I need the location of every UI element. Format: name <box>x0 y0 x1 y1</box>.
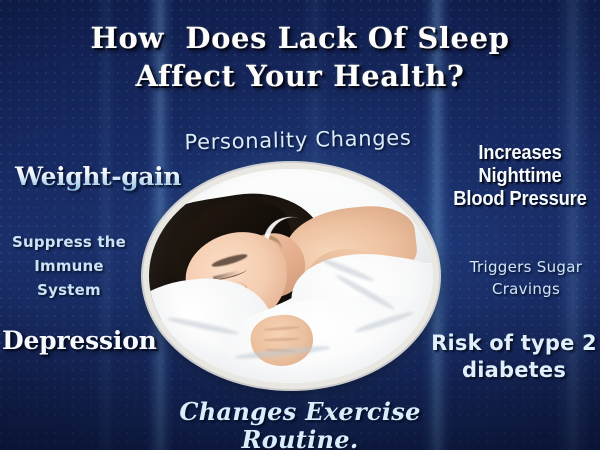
photo-edge-shading <box>149 169 433 383</box>
page-title: How Does Lack Of Sleep Affect Your Healt… <box>0 20 600 94</box>
label-suppress-immune-system: Suppress the Immune System <box>2 230 136 302</box>
label-triggers-sugar-cravings: Triggers Sugar Cravings <box>452 256 600 300</box>
sleeping-woman-photo <box>149 169 433 383</box>
label-changes-exercise-routine: Changes Exercise Routine. <box>130 398 470 450</box>
sleeping-woman-photo-frame <box>143 163 439 389</box>
label-depression: Depression <box>2 326 152 356</box>
sleep-health-infographic: How Does Lack Of Sleep Affect Your Healt… <box>0 0 600 450</box>
label-increases-nighttime-blood-pressure: Increases Nighttime Blood Pressure <box>450 142 590 211</box>
label-personality-changes: Personality Changes <box>178 125 418 154</box>
photo-inner-mask <box>149 169 433 383</box>
page-title-line-1: How Does Lack Of Sleep <box>0 20 600 56</box>
page-title-line-2: Affect Your Health? <box>0 58 600 94</box>
label-weight-gain: Weight-gain <box>8 163 188 191</box>
label-risk-of-type-2-diabetes: Risk of type 2 diabetes <box>430 330 598 384</box>
